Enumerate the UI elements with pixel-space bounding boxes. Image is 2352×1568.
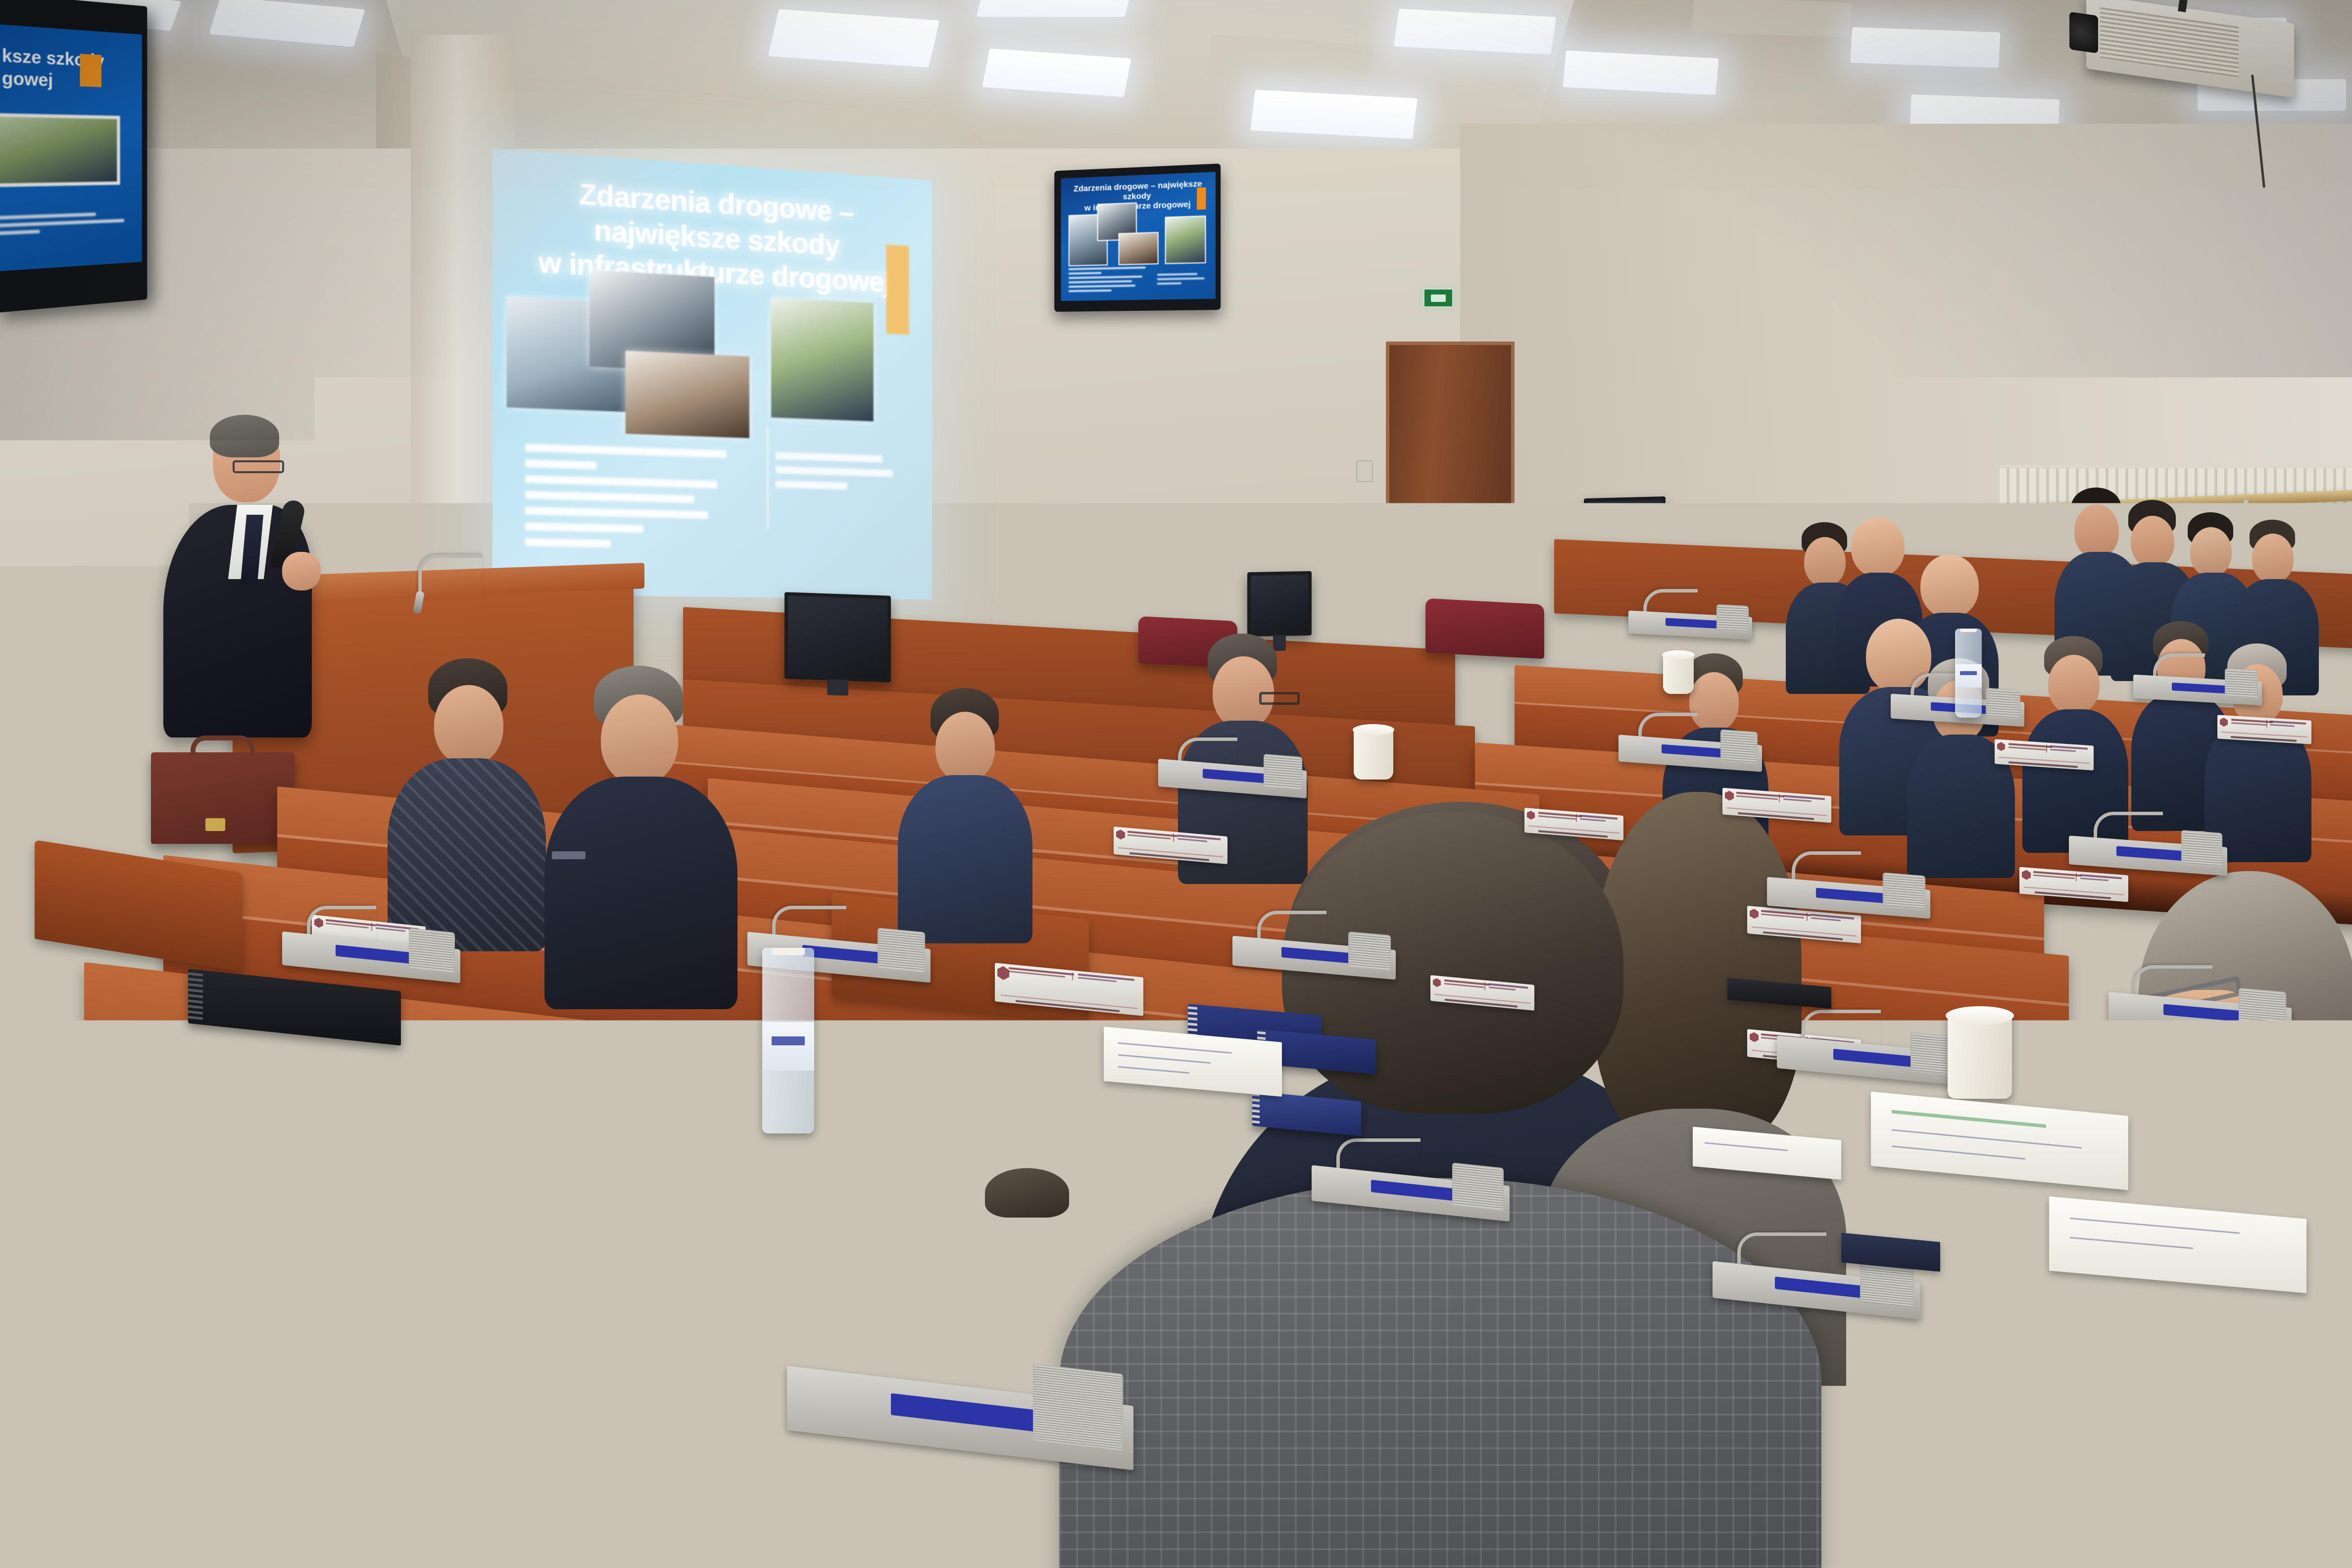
paper-cup[interactable] bbox=[1948, 1012, 2012, 1099]
office-chair[interactable] bbox=[1425, 598, 1544, 659]
cup-rim bbox=[1946, 1006, 2014, 1026]
notebook-spiral bbox=[1252, 1093, 1260, 1125]
microphone-speaker-grille bbox=[1883, 873, 1925, 910]
briefcase-clasp bbox=[205, 818, 225, 831]
ceiling-recess-far bbox=[386, 0, 1574, 163]
hexagon-logo-icon bbox=[1725, 790, 1734, 801]
attendee-head bbox=[1920, 554, 1979, 618]
water-bottle[interactable] bbox=[1955, 629, 1982, 718]
cup-rim bbox=[1662, 650, 1695, 659]
left-monitor-screen: …ksze szkody …gowej bbox=[0, 24, 142, 272]
folder-edge bbox=[188, 972, 203, 1022]
bottle-label bbox=[762, 1022, 814, 1071]
cup-rim bbox=[1353, 724, 1395, 735]
paper-cup[interactable] bbox=[1663, 653, 1694, 694]
microphone-speaker-grille bbox=[409, 928, 455, 973]
ceiling-light-panel bbox=[1250, 90, 1418, 139]
attendee-head bbox=[2252, 534, 2294, 583]
speaker-hand bbox=[282, 552, 321, 590]
left-monitor-body-text bbox=[0, 211, 135, 240]
slide-photo-4 bbox=[771, 297, 874, 422]
tv-photo-3 bbox=[1119, 232, 1159, 266]
wall-mounted-tv: Zdarzenia drogowe – największe szkody w … bbox=[1054, 163, 1221, 312]
attendee-head bbox=[434, 685, 503, 765]
projector-vent-grille bbox=[2100, 7, 2239, 78]
desk-monitor-screen bbox=[788, 595, 887, 679]
conference-hall-photograph: Zdarzenia drogowe – największe szkody w … bbox=[0, 0, 2352, 1568]
monitor-stand bbox=[1273, 635, 1286, 651]
monitor-stand bbox=[827, 679, 848, 696]
tv-screen: Zdarzenia drogowe – największe szkody w … bbox=[1061, 172, 1216, 301]
microphone-speaker-grille bbox=[1033, 1364, 1123, 1451]
left-monitor-accent-bar bbox=[80, 53, 101, 87]
left-monitor-text: …ksze szkody …gowej bbox=[0, 43, 142, 95]
projector-lens bbox=[2069, 12, 2098, 53]
paper-cup[interactable] bbox=[490, 1319, 594, 1458]
nameplate-role: Przedstawiciel bbox=[438, 1022, 439, 1022]
ceiling-light-panel bbox=[1850, 27, 2000, 68]
slide-accent-bar bbox=[886, 245, 909, 335]
microphone-speaker-grille bbox=[1264, 754, 1302, 790]
slide-body-text-right bbox=[776, 452, 903, 498]
slide-column-divider bbox=[767, 426, 768, 529]
hexagon-logo-icon bbox=[2022, 870, 2031, 880]
shoulder-insignia-icon bbox=[552, 851, 586, 859]
attendee-uniform-torso bbox=[544, 777, 737, 1009]
hexagon-logo-icon bbox=[1750, 1032, 1759, 1043]
attendee-head bbox=[2048, 655, 2100, 714]
desk-monitor bbox=[784, 592, 891, 683]
bottle-cap bbox=[772, 948, 805, 955]
attendee-patterned-jacket bbox=[388, 758, 546, 951]
ceiling-light-panel bbox=[977, 0, 1132, 17]
microphone-speaker-grille bbox=[1986, 688, 2020, 720]
attendee-head bbox=[935, 712, 995, 782]
attendee-hair bbox=[985, 1168, 1069, 1218]
tv-photo-4 bbox=[1165, 215, 1206, 264]
programme-card bbox=[546, 1121, 670, 1174]
cup-rim bbox=[487, 1309, 597, 1340]
hexagon-logo-icon bbox=[1527, 810, 1535, 820]
hexagon-logo-icon bbox=[997, 966, 1009, 980]
ceiling-tile bbox=[1691, 0, 1852, 38]
emergency-exit-icon: EXIT bbox=[1423, 288, 1454, 308]
tv-body-text-left bbox=[1069, 267, 1153, 295]
microphone-speaker-grille bbox=[2181, 830, 2222, 868]
hexagon-logo-icon bbox=[2220, 718, 2228, 727]
attendee-head bbox=[2190, 527, 2232, 577]
microphone-speaker-grille bbox=[1452, 1163, 1504, 1211]
projected-slide: Zdarzenia drogowe – największe szkody w … bbox=[492, 148, 932, 600]
attendee-eyeglasses-frame bbox=[1259, 692, 1300, 705]
attendee-torso bbox=[898, 775, 1032, 943]
left-wall-monitor: …ksze szkody …gowej bbox=[0, 0, 147, 313]
bottle-cap bbox=[1960, 629, 1977, 632]
speaker-hair bbox=[210, 415, 279, 457]
attendee-head bbox=[2131, 516, 2174, 567]
microphone-speaker-grille bbox=[2225, 668, 2258, 698]
tv-slide-title: Zdarzenia drogowe – największe szkody w … bbox=[1073, 179, 1203, 213]
attendee-head bbox=[2074, 504, 2119, 558]
microphone-speaker-grille bbox=[1720, 730, 1758, 764]
left-monitor-photo bbox=[0, 113, 120, 188]
microphone-speaker-grille bbox=[878, 928, 925, 973]
hexagon-logo-icon bbox=[1116, 829, 1125, 840]
card-accent-block bbox=[629, 1125, 653, 1138]
hexagon-logo-icon bbox=[1997, 742, 2005, 751]
exit-running-man-glyph bbox=[1431, 294, 1446, 302]
leather-briefcase bbox=[151, 752, 294, 844]
tv-accent-bar bbox=[1197, 188, 1206, 210]
briefcase-handle bbox=[191, 735, 255, 755]
gooseneck-microphone-arm bbox=[836, 1287, 965, 1376]
projection-screen: Zdarzenia drogowe – największe szkody w … bbox=[492, 148, 932, 600]
microphone-speaker-grille bbox=[1348, 931, 1391, 971]
eyeglasses-icon bbox=[233, 460, 284, 473]
desk-monitor-screen bbox=[1251, 575, 1308, 633]
water-bottle[interactable] bbox=[762, 948, 814, 1133]
handrail-post bbox=[2242, 500, 2250, 564]
attendee-head bbox=[1804, 537, 1846, 587]
paper-cup[interactable] bbox=[1354, 728, 1393, 780]
microphone-speaker-grille bbox=[2239, 988, 2286, 1030]
desk-monitor bbox=[1247, 571, 1312, 637]
tv-body-text-right bbox=[1157, 273, 1208, 287]
clipboard-clip bbox=[413, 1150, 448, 1170]
attendee-head bbox=[601, 694, 678, 784]
slide-photo-3 bbox=[626, 350, 750, 438]
microphone-speaker-grille bbox=[1716, 604, 1749, 634]
hexagon-logo-icon bbox=[1433, 978, 1441, 988]
attendee-head bbox=[1851, 517, 1905, 577]
foreground-attendee-plaid-jacket bbox=[1059, 1178, 1821, 1568]
hexagon-logo-icon bbox=[1750, 908, 1759, 919]
attendee-long-hair bbox=[1594, 792, 1802, 1148]
bottle-label bbox=[1955, 664, 1982, 687]
gooseneck-microphone-arm bbox=[418, 554, 483, 599]
slide-body-text-left bbox=[525, 443, 758, 558]
wall-outlet-plate bbox=[1356, 460, 1373, 482]
